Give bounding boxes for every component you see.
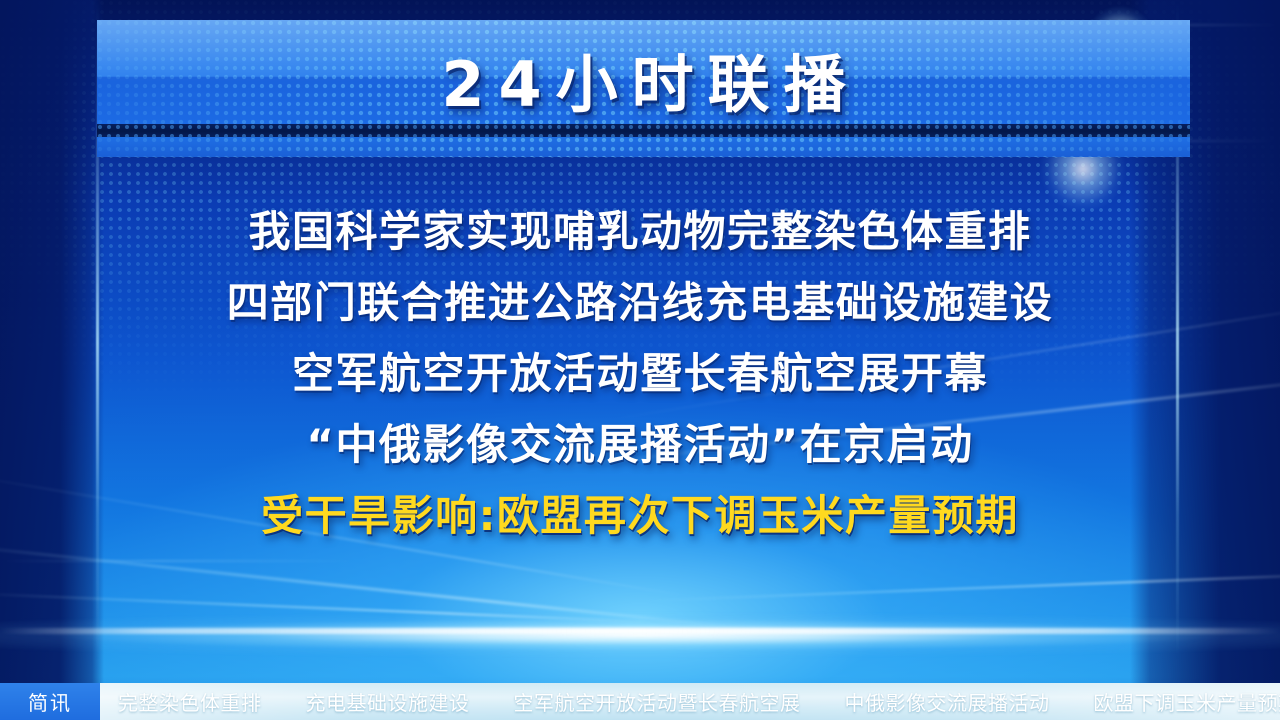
headline-item[interactable]: 我国科学家实现哺乳动物完整染色体重排 <box>100 196 1180 267</box>
ticker-strip: 完整染色体重排 充电基础设施建设 空军航空开放活动暨长春航空展 中俄影像交流展播… <box>100 683 1280 720</box>
headline-item-highlighted[interactable]: 受干旱影响:欧盟再次下调玉米产量预期 <box>100 480 1180 551</box>
headline-item[interactable]: “中俄影像交流展播活动”在京启动 <box>100 409 1180 480</box>
news-ticker: 简讯 完整染色体重排 充电基础设施建设 空军航空开放活动暨长春航空展 中俄影像交… <box>0 683 1280 720</box>
ticker-item-list: 完整染色体重排 充电基础设施建设 空军航空开放活动暨长春航空展 中俄影像交流展播… <box>100 683 1280 720</box>
ticker-item[interactable]: 中俄影像交流展播活动 <box>845 687 1050 716</box>
ticker-badge[interactable]: 简讯 <box>0 683 100 720</box>
headline-item[interactable]: 四部门联合推进公路沿线充电基础设施建设 <box>100 267 1180 338</box>
broadcast-lower-third-screen: 24小时联播 我国科学家实现哺乳动物完整染色体重排 四部门联合推进公路沿线充电基… <box>0 0 1280 720</box>
headline-list: 我国科学家实现哺乳动物完整染色体重排 四部门联合推进公路沿线充电基础设施建设 空… <box>100 196 1180 551</box>
title-band-lower <box>97 137 1190 157</box>
ticker-item[interactable]: 完整染色体重排 <box>118 687 262 716</box>
light-streak <box>0 560 360 562</box>
title-band-lower-dots <box>97 137 1190 157</box>
ticker-item[interactable]: 空军航空开放活动暨长春航空展 <box>514 687 801 716</box>
headline-item[interactable]: 空军航空开放活动暨长春航空展开幕 <box>100 338 1180 409</box>
program-title: 24小时联播 <box>97 20 1190 137</box>
ticker-item[interactable]: 欧盟下调玉米产量预期 <box>1094 687 1280 716</box>
ticker-item[interactable]: 充电基础设施建设 <box>306 687 470 716</box>
horizon-glow <box>0 612 1280 658</box>
horizon-glow-line <box>0 628 1280 634</box>
